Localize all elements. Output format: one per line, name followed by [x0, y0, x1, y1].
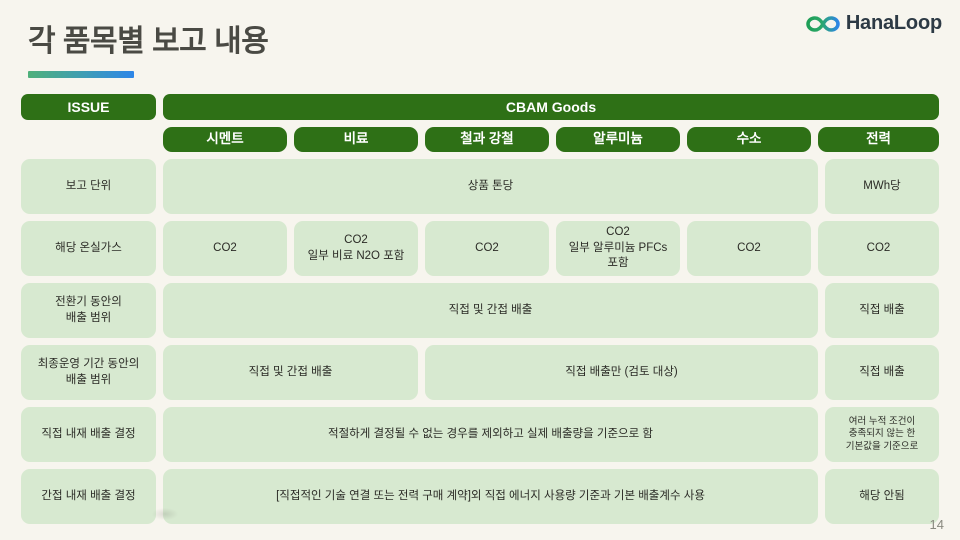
cell-transition-scope-goods: 직접 및 간접 배출 — [163, 283, 818, 338]
cell-definitive-scope-cement-fertilizer: 직접 및 간접 배출 — [163, 345, 418, 400]
row-label-indirect-embedded: 간접 내재 배출 결정 — [21, 469, 156, 524]
column-header-spacer — [21, 127, 156, 152]
cell-transition-scope-electricity: 직접 배출 — [825, 283, 939, 338]
cbam-comparison-table: ISSUE CBAM Goods 시멘트 비료 철과 강철 알루미늄 수소 전력… — [21, 94, 939, 531]
table-header-row: ISSUE CBAM Goods — [21, 94, 939, 120]
cell-ghg-cement: CO2 — [163, 221, 287, 276]
cell-direct-embedded-electricity: 여러 누적 조건이 충족되지 않는 한 기본값을 기준으로 — [825, 407, 939, 462]
cell-direct-embedded-goods: 적절하게 결정될 수 없는 경우를 제외하고 실제 배출량을 기준으로 함 — [163, 407, 818, 462]
cell-reporting-unit-goods: 상품 톤당 — [163, 159, 818, 214]
cell-ghg-aluminium: CO2 일부 알루미늄 PFCs 포함 — [556, 221, 680, 276]
cell-ghg-iron-steel: CO2 — [425, 221, 549, 276]
row-label-definitive-scope: 최종운영 기간 동안의 배출 범위 — [21, 345, 156, 400]
page-number: 14 — [930, 517, 944, 532]
table-row: 전환기 동안의 배출 범위 직접 및 간접 배출 직접 배출 — [21, 283, 939, 338]
cell-reporting-unit-electricity: MWh당 — [825, 159, 939, 214]
table-row: 직접 내재 배출 결정 적절하게 결정될 수 없는 경우를 제외하고 실제 배출… — [21, 407, 939, 462]
column-header-hydrogen: 수소 — [687, 127, 811, 152]
brand-name: HanaLoop — [846, 12, 942, 35]
table-row: 해당 온실가스 CO2 CO2 일부 비료 N2O 포함 CO2 CO2 일부 … — [21, 221, 939, 276]
row-label-transition-scope: 전환기 동안의 배출 범위 — [21, 283, 156, 338]
cell-definitive-scope-steel-alu-hydrogen: 직접 배출만 (검토 대상) — [425, 345, 818, 400]
table-column-header-row: 시멘트 비료 철과 강철 알루미늄 수소 전력 — [21, 127, 939, 152]
cell-ghg-fertilizer: CO2 일부 비료 N2O 포함 — [294, 221, 418, 276]
column-header-iron-steel: 철과 강철 — [425, 127, 549, 152]
issue-header: ISSUE — [21, 94, 156, 120]
column-header-electricity: 전력 — [818, 127, 939, 152]
infinity-icon — [806, 14, 840, 34]
row-label-reporting-unit: 보고 단위 — [21, 159, 156, 214]
table-row: 최종운영 기간 동안의 배출 범위 직접 및 간접 배출 직접 배출만 (검토 … — [21, 345, 939, 400]
slide-header: 각 품목별 보고 내용 HanaLoop — [0, 0, 960, 88]
cell-definitive-scope-electricity: 직접 배출 — [825, 345, 939, 400]
cell-ghg-electricity: CO2 — [818, 221, 939, 276]
cell-indirect-embedded-goods: [직접적인 기술 연결 또는 전력 구매 계약]외 직접 에너지 사용량 기준과… — [163, 469, 818, 524]
brand-logo: HanaLoop — [806, 12, 942, 35]
cbam-goods-header: CBAM Goods — [163, 94, 939, 120]
table-row: 보고 단위 상품 톤당 MWh당 — [21, 159, 939, 214]
table-row: 간접 내재 배출 결정 [직접적인 기술 연결 또는 전력 구매 계약]외 직접… — [21, 469, 939, 524]
title-accent-bar — [28, 71, 134, 78]
cell-ghg-hydrogen: CO2 — [687, 221, 811, 276]
page-title: 각 품목별 보고 내용 — [28, 16, 268, 60]
cell-indirect-embedded-electricity: 해당 안됨 — [825, 469, 939, 524]
column-header-aluminium: 알루미늄 — [556, 127, 680, 152]
column-header-fertilizer: 비료 — [294, 127, 418, 152]
row-label-greenhouse-gases: 해당 온실가스 — [21, 221, 156, 276]
row-label-direct-embedded: 직접 내재 배출 결정 — [21, 407, 156, 462]
column-header-cement: 시멘트 — [163, 127, 287, 152]
